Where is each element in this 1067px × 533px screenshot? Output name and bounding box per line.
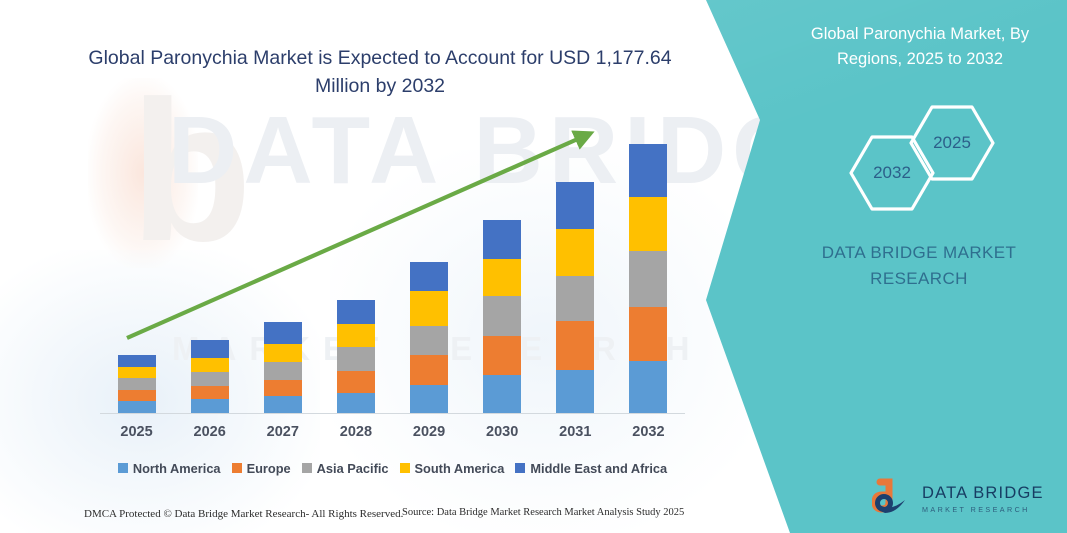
stacked-bar bbox=[264, 322, 302, 413]
hexagon-badge-2025: 2025 bbox=[908, 104, 996, 182]
bar-column bbox=[248, 120, 318, 413]
stacked-bar bbox=[629, 144, 667, 413]
bar-segment bbox=[264, 380, 302, 396]
bar-segment bbox=[191, 386, 229, 399]
bar-column bbox=[321, 120, 391, 413]
bar-segment bbox=[556, 321, 594, 371]
x-axis-tick-label: 2030 bbox=[467, 424, 537, 440]
teal-panel-content: Global Paronychia Market, By Regions, 20… bbox=[760, 0, 1067, 533]
bar-segment bbox=[483, 336, 521, 376]
stacked-bar bbox=[410, 262, 448, 413]
chart-title: Global Paronychia Market is Expected to … bbox=[70, 44, 690, 101]
stacked-bar bbox=[337, 300, 375, 413]
bar-segment bbox=[118, 390, 156, 401]
bar-segment bbox=[556, 229, 594, 276]
chart-panel: b DATA BRIDGE MARKET RESEARCH Global Par… bbox=[0, 0, 760, 533]
data-bridge-logo-icon bbox=[872, 478, 914, 520]
bar-segment bbox=[629, 307, 667, 362]
footer-source: Source: Data Bridge Market Research Mark… bbox=[402, 507, 684, 518]
bar-segment bbox=[629, 197, 667, 252]
brand-name: DATA BRIDGE MARKET RESEARCH bbox=[784, 240, 1054, 291]
logo-title: DATA BRIDGE bbox=[922, 484, 1044, 503]
legend-swatch-icon bbox=[515, 463, 525, 473]
x-axis-tick-label: 2031 bbox=[540, 424, 610, 440]
legend-label: South America bbox=[415, 461, 505, 476]
legend-item[interactable]: Middle East and Africa bbox=[515, 461, 667, 476]
bar-column bbox=[102, 120, 172, 413]
legend-label: North America bbox=[133, 461, 221, 476]
hexagon-label-2025: 2025 bbox=[933, 133, 971, 153]
stacked-bar bbox=[118, 355, 156, 413]
bar-column bbox=[467, 120, 537, 413]
infographic-root: b DATA BRIDGE MARKET RESEARCH Global Par… bbox=[0, 0, 1067, 533]
bar-segment bbox=[629, 144, 667, 197]
stacked-bar-chart bbox=[100, 120, 685, 413]
stacked-bar bbox=[191, 340, 229, 413]
bar-segment bbox=[264, 344, 302, 363]
legend-swatch-icon bbox=[118, 463, 128, 473]
bar-segment bbox=[118, 378, 156, 390]
bar-column bbox=[540, 120, 610, 413]
legend-swatch-icon bbox=[302, 463, 312, 473]
bar-segment bbox=[556, 370, 594, 413]
company-logo: DATA BRIDGE MARKET RESEARCH bbox=[872, 476, 1052, 522]
bar-segment bbox=[337, 324, 375, 348]
bar-segment bbox=[483, 259, 521, 296]
bar-segment bbox=[410, 262, 448, 291]
bar-segment bbox=[264, 396, 302, 413]
legend-label: Asia Pacific bbox=[317, 461, 389, 476]
bar-segment bbox=[483, 296, 521, 336]
footer-copyright: DMCA Protected © Data Bridge Market Rese… bbox=[84, 508, 403, 520]
bar-segment bbox=[264, 322, 302, 344]
panel-title: Global Paronychia Market, By Regions, 20… bbox=[780, 22, 1060, 72]
legend-item[interactable]: North America bbox=[118, 461, 221, 476]
legend-label: Europe bbox=[247, 461, 291, 476]
legend-swatch-icon bbox=[400, 463, 410, 473]
hexagon-label-2032: 2032 bbox=[873, 163, 911, 183]
legend-item[interactable]: Asia Pacific bbox=[302, 461, 389, 476]
bar-segment bbox=[410, 291, 448, 326]
bar-segment bbox=[337, 300, 375, 324]
bar-column bbox=[613, 120, 683, 413]
bar-column bbox=[394, 120, 464, 413]
bar-segment bbox=[118, 401, 156, 413]
x-axis-labels: 20252026202720282029203020312032 bbox=[100, 424, 685, 448]
bar-segment bbox=[556, 276, 594, 321]
stacked-bar bbox=[556, 182, 594, 413]
bar-segment bbox=[191, 372, 229, 386]
bar-segment bbox=[337, 393, 375, 413]
chart-legend: North AmericaEuropeAsia PacificSouth Ame… bbox=[100, 458, 685, 478]
x-axis-tick-label: 2032 bbox=[613, 424, 683, 440]
stacked-bar bbox=[483, 220, 521, 413]
x-axis-tick-label: 2028 bbox=[321, 424, 391, 440]
x-axis-tick-label: 2029 bbox=[394, 424, 464, 440]
x-axis-tick-label: 2026 bbox=[175, 424, 245, 440]
bar-segment bbox=[191, 358, 229, 372]
footer: DMCA Protected © Data Bridge Market Rese… bbox=[0, 505, 760, 533]
legend-item[interactable]: Europe bbox=[232, 461, 291, 476]
bar-segment bbox=[118, 367, 156, 378]
legend-label: Middle East and Africa bbox=[530, 461, 667, 476]
bar-segment bbox=[483, 220, 521, 259]
bar-segment bbox=[118, 355, 156, 367]
bar-segment bbox=[629, 251, 667, 307]
bar-segment bbox=[191, 399, 229, 413]
x-axis-line bbox=[100, 413, 685, 414]
bar-segment bbox=[410, 355, 448, 385]
bar-segment bbox=[410, 385, 448, 413]
x-axis-tick-label: 2027 bbox=[248, 424, 318, 440]
bar-segment bbox=[264, 362, 302, 380]
legend-item[interactable]: South America bbox=[400, 461, 505, 476]
bar-segment bbox=[629, 361, 667, 413]
bar-segment bbox=[410, 326, 448, 356]
bar-segment bbox=[556, 182, 594, 230]
logo-wordmark: DATA BRIDGE MARKET RESEARCH bbox=[922, 484, 1044, 514]
bar-column bbox=[175, 120, 245, 413]
bar-segment bbox=[483, 375, 521, 413]
bar-segment bbox=[337, 347, 375, 371]
bar-segment bbox=[337, 371, 375, 393]
logo-subtitle: MARKET RESEARCH bbox=[922, 505, 1044, 514]
legend-swatch-icon bbox=[232, 463, 242, 473]
bar-segment bbox=[191, 340, 229, 359]
x-axis-tick-label: 2025 bbox=[102, 424, 172, 440]
